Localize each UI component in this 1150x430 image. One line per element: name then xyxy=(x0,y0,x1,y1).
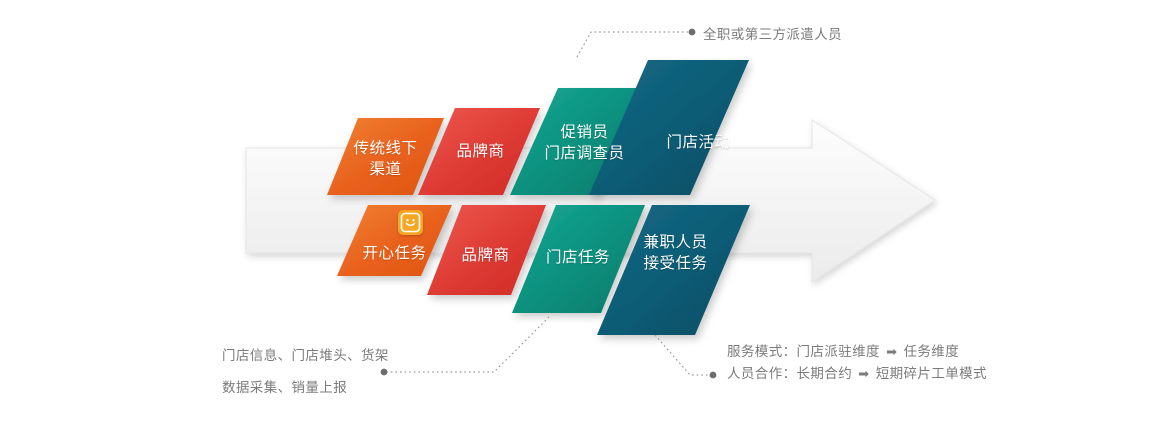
connector-dot-top xyxy=(689,29,696,36)
connector-bottom-left xyxy=(386,317,549,372)
annotation-service-mode: 服务模式：门店派驻维度 ➡ 任务维度 人员合作：长期合约 ➡ 短期碎片工单模式 xyxy=(727,341,987,385)
right-arrow-icon-2: ➡ xyxy=(856,366,871,381)
annotation-store-data-line2: 数据采集、销量上报 xyxy=(222,377,389,399)
annotation-service-mode-line2-post: 短期碎片工单模式 xyxy=(872,366,987,381)
annotation-staffing-line1: 全职或第三方派遣人员 xyxy=(703,24,842,46)
connector-bottom-right xyxy=(655,335,711,375)
annotation-service-mode-line2-pre: 人员合作：长期合约 xyxy=(727,366,856,381)
smiley-icon xyxy=(398,210,423,235)
annotation-staffing: 全职或第三方派遣人员 xyxy=(703,24,842,46)
connector-dot-bottom-right xyxy=(710,372,717,379)
connector-top xyxy=(577,32,690,57)
annotation-service-mode-line1: 服务模式：门店派驻维度 ➡ 任务维度 xyxy=(727,341,987,363)
annotation-store-data-line1: 门店信息、门店堆头、货架 xyxy=(222,345,389,367)
annotation-service-mode-line2: 人员合作：长期合约 ➡ 短期碎片工单模式 xyxy=(727,363,987,385)
diagram-canvas: 传统线下 渠道 品牌商 促销员 门店调查员 门店活动 开心任务 品牌商 门店任务… xyxy=(0,0,1150,430)
annotation-service-mode-line1-post: 任务维度 xyxy=(899,344,959,359)
annotation-store-data: 门店信息、门店堆头、货架 数据采集、销量上报 xyxy=(222,345,389,399)
annotation-service-mode-line1-pre: 服务模式：门店派驻维度 xyxy=(727,344,884,359)
right-arrow-icon-1: ➡ xyxy=(884,344,899,359)
